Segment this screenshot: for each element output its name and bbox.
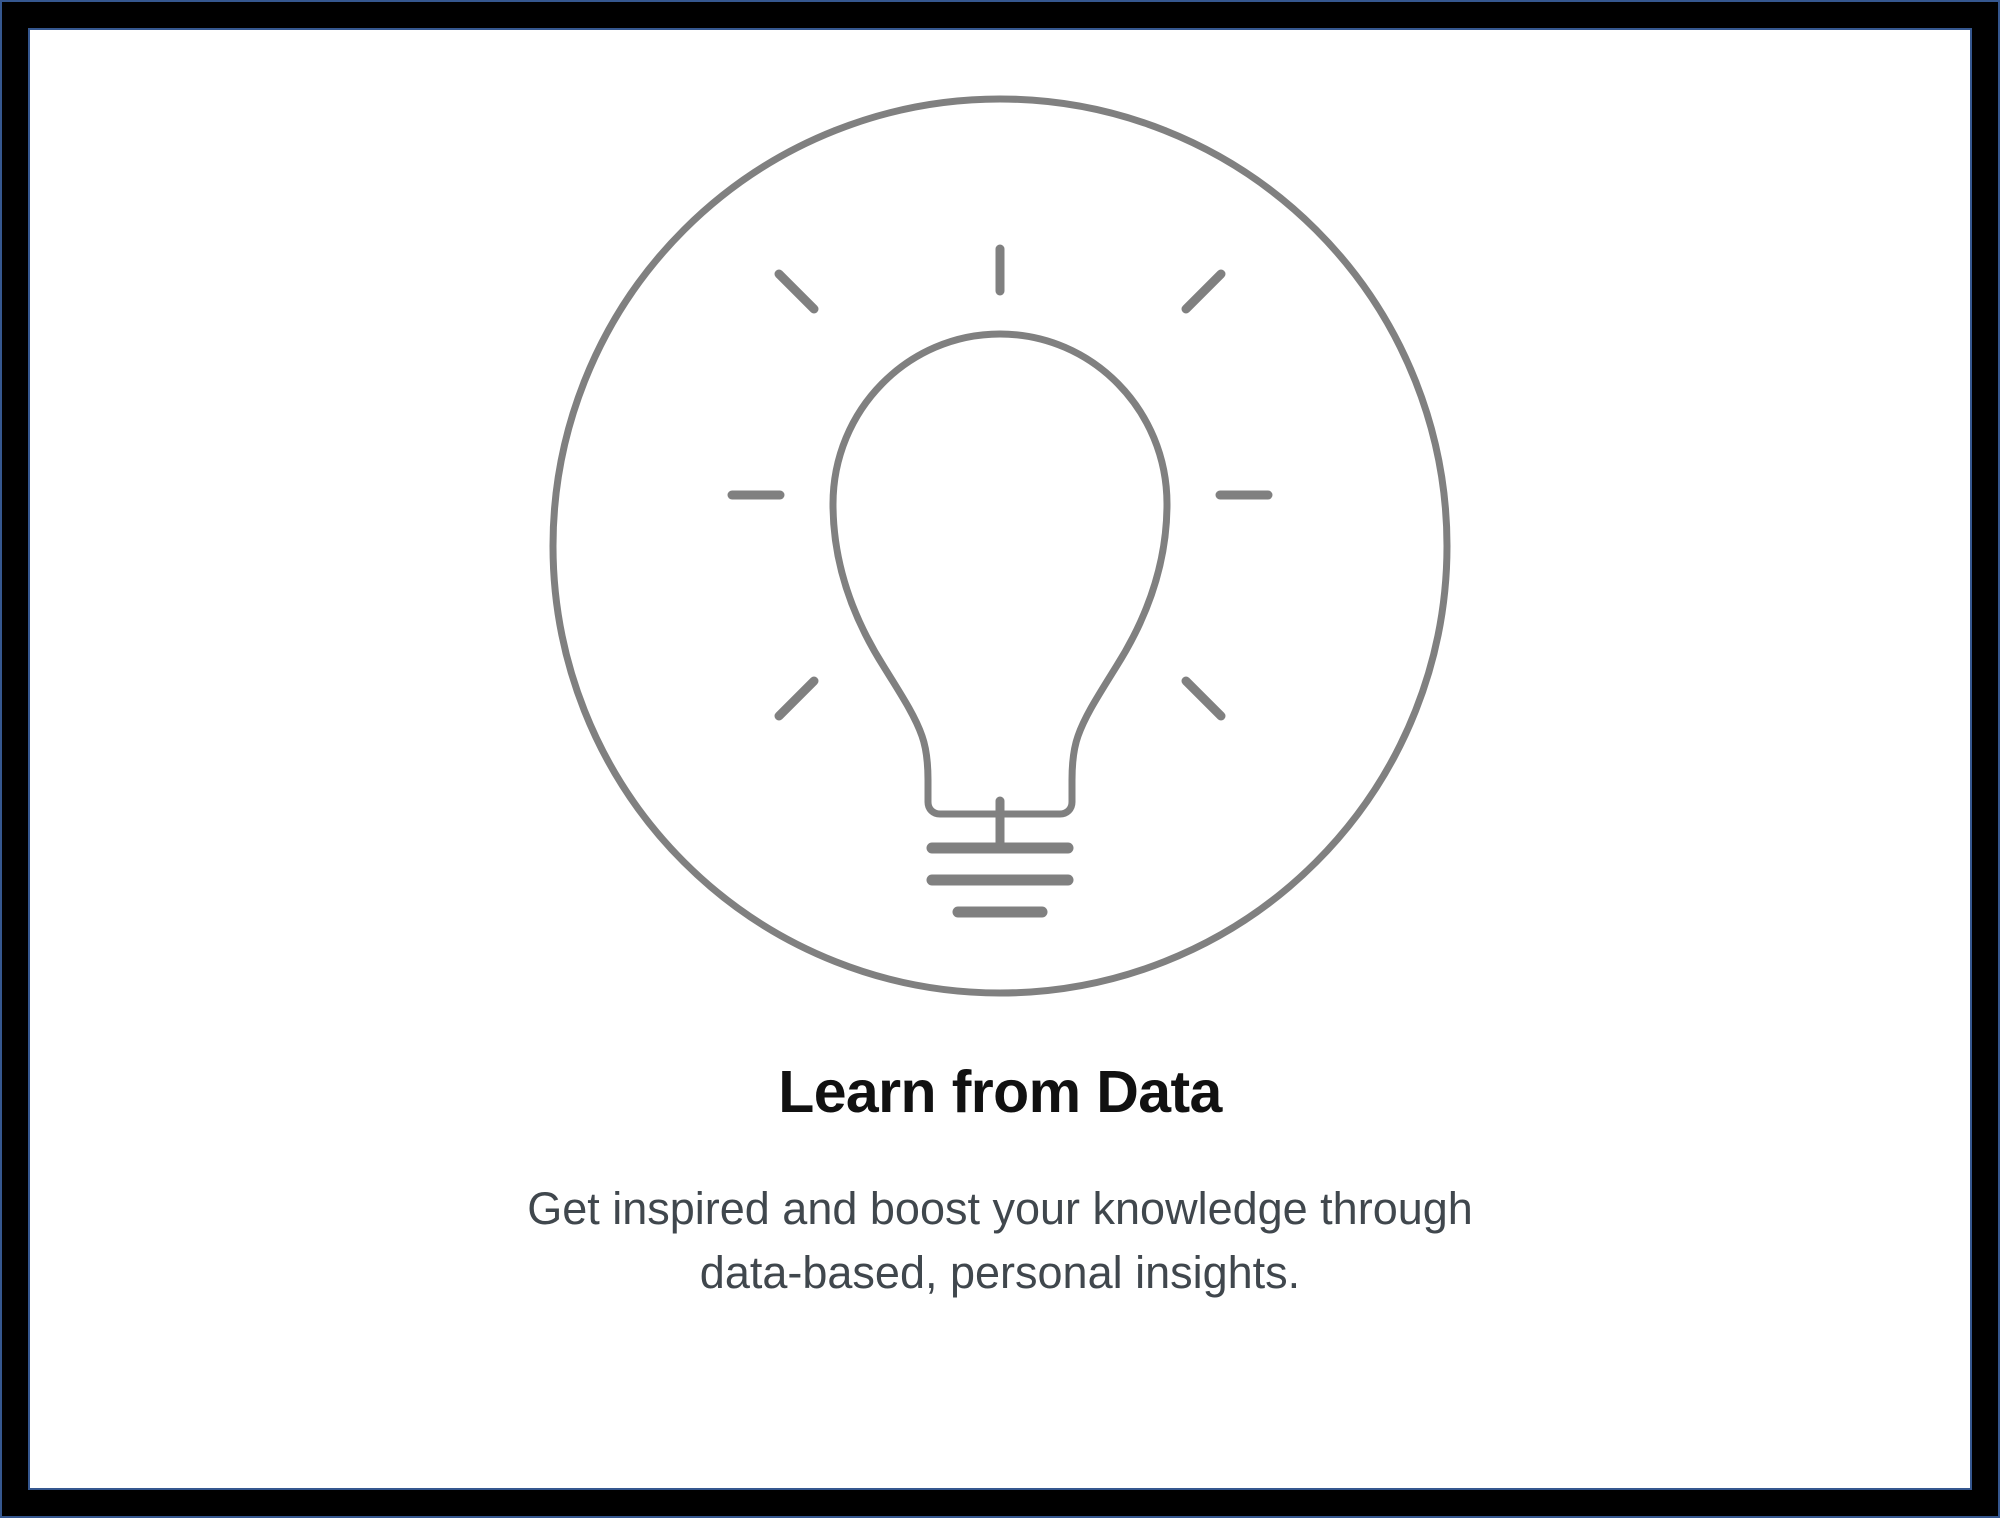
lightbulb-icon <box>540 86 1460 1006</box>
card-title: Learn from Data <box>30 1060 1970 1125</box>
ray-bottom-left <box>779 681 814 716</box>
ray-bottom-right <box>1186 681 1221 716</box>
card-description: Get inspired and boost your knowledge th… <box>30 1125 1970 1305</box>
screenshot-root: Learn from Data Get inspired and boost y… <box>0 0 2000 1518</box>
icon-container <box>30 86 1970 1006</box>
card-frame-border: Learn from Data Get inspired and boost y… <box>28 28 1972 1490</box>
card-description-line-1: Get inspired and boost your knowledge th… <box>30 1177 1970 1241</box>
ray-top-left <box>779 274 814 309</box>
ray-top-right <box>1186 274 1221 309</box>
card-description-line-2: data-based, personal insights. <box>30 1241 1970 1305</box>
bulb-outline <box>833 334 1167 814</box>
icon-outer-circle <box>553 99 1447 993</box>
card-text-block: Learn from Data Get inspired and boost y… <box>30 1060 1970 1305</box>
learn-from-data-card[interactable]: Learn from Data Get inspired and boost y… <box>30 30 1970 1488</box>
